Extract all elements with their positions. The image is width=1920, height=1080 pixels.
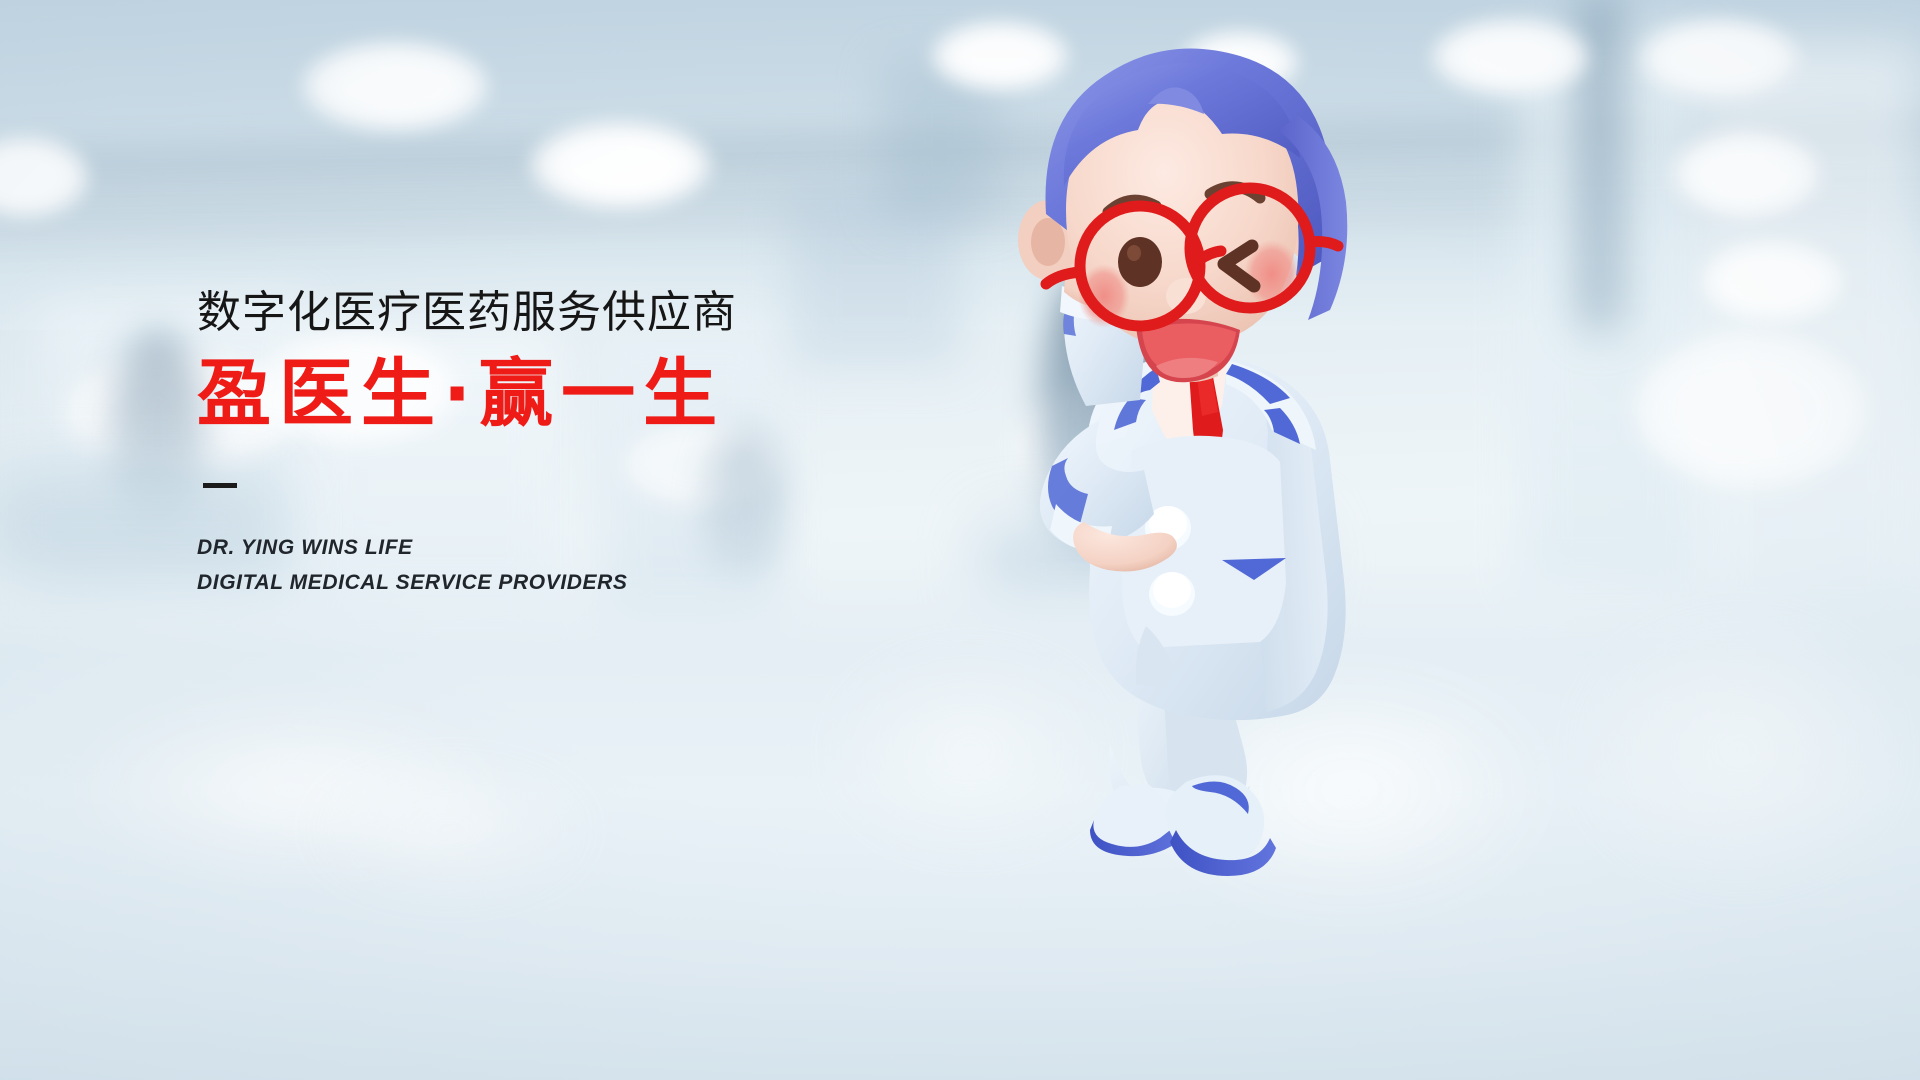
hero-banner: 数字化医疗医药服务供应商 盈医生·赢一生 DR. YING WINS LIFE …	[0, 0, 1920, 1080]
page-title: 数字化医疗医药服务供应商	[197, 288, 737, 337]
divider-rule	[203, 483, 237, 488]
glasses-temple-right	[1310, 242, 1338, 247]
hero-slogan: 盈医生·赢一生	[197, 355, 737, 435]
english-line-1: DR. YING WINS LIFE	[197, 530, 737, 565]
hero-copy: 数字化医疗医药服务供应商 盈医生·赢一生 DR. YING WINS LIFE …	[197, 288, 737, 601]
hero-english-subtitle: DR. YING WINS LIFE DIGITAL MEDICAL SERVI…	[197, 530, 737, 601]
mascot-shoes	[1090, 775, 1276, 876]
mascot-eye-open	[1118, 237, 1162, 287]
doctor-mascot	[960, 34, 1430, 864]
english-line-2: DIGITAL MEDICAL SERVICE PROVIDERS	[197, 565, 737, 600]
